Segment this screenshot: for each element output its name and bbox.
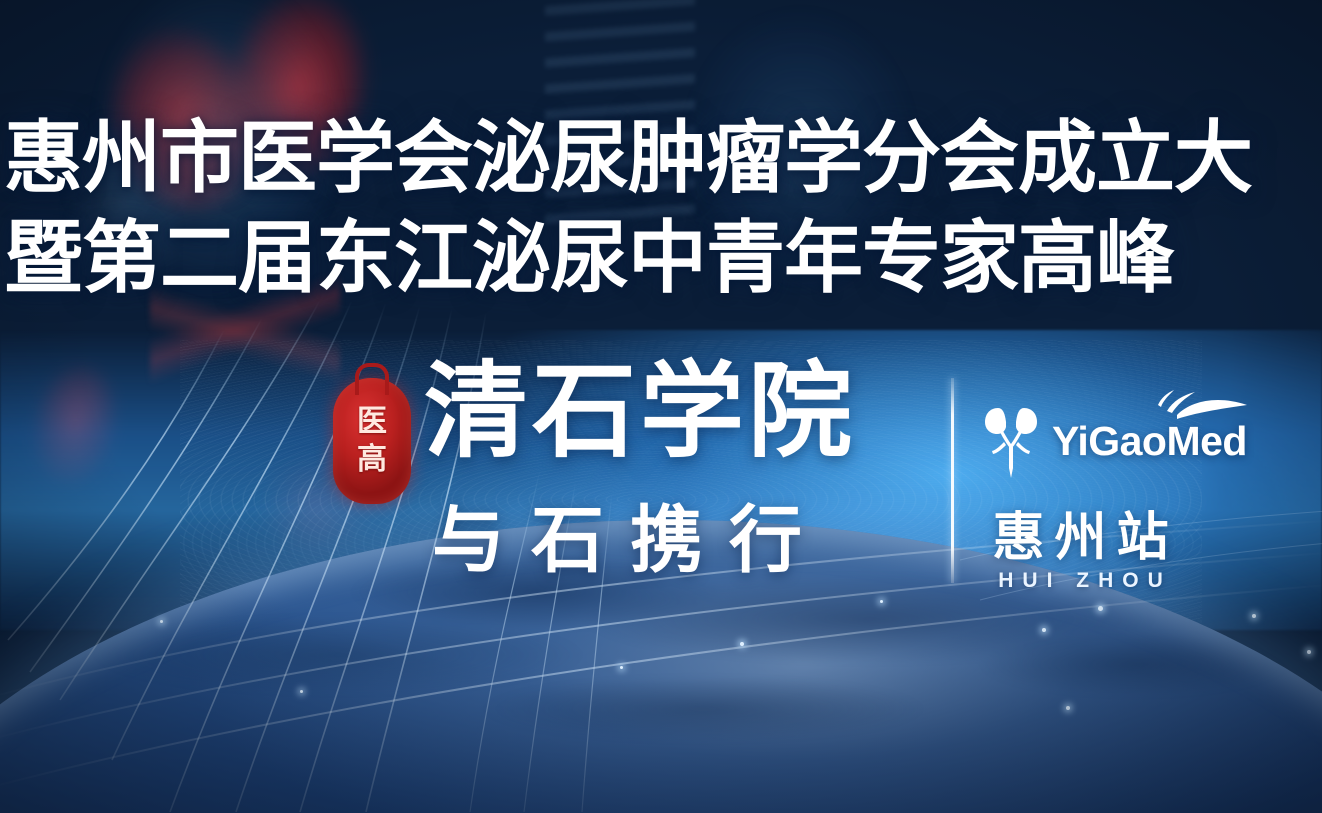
brand-lockup: YiGaoMed (978, 402, 1247, 480)
swoosh-icon (1155, 387, 1251, 421)
seal-char-top: 医 (357, 406, 387, 438)
event-title: 惠州市医学会泌尿肿瘤学分会成立大 暨第二届东江泌尿中青年专家高峰 (4, 108, 1322, 308)
seal-char-bottom: 高 (357, 444, 387, 476)
medical-seal-badge: 医 高 (333, 378, 411, 504)
vertical-divider (951, 378, 954, 583)
academy-slogan: 与石携行 (432, 498, 828, 584)
poster-content: 惠州市医学会泌尿肿瘤学分会成立大 暨第二届东江泌尿中青年专家高峰 医 高 清石学… (0, 0, 1322, 813)
station-name-en: HUI ZHOU (963, 568, 1198, 594)
event-title-line-2: 暨第二届东江泌尿中青年专家高峰 (4, 208, 1322, 308)
event-title-line-1: 惠州市医学会泌尿肿瘤学分会成立大 (4, 108, 1322, 208)
brand-wordmark: YiGaoMed (1052, 419, 1247, 463)
conference-poster: 惠州市医学会泌尿肿瘤学分会成立大 暨第二届东江泌尿中青年专家高峰 医 高 清石学… (0, 0, 1322, 813)
academy-name: 清石学院 (424, 356, 856, 468)
station-lockup: 惠州站 HUI ZHOU (963, 508, 1198, 594)
station-name-cn: 惠州站 (963, 508, 1198, 568)
urinary-kidneys-icon (978, 402, 1044, 480)
